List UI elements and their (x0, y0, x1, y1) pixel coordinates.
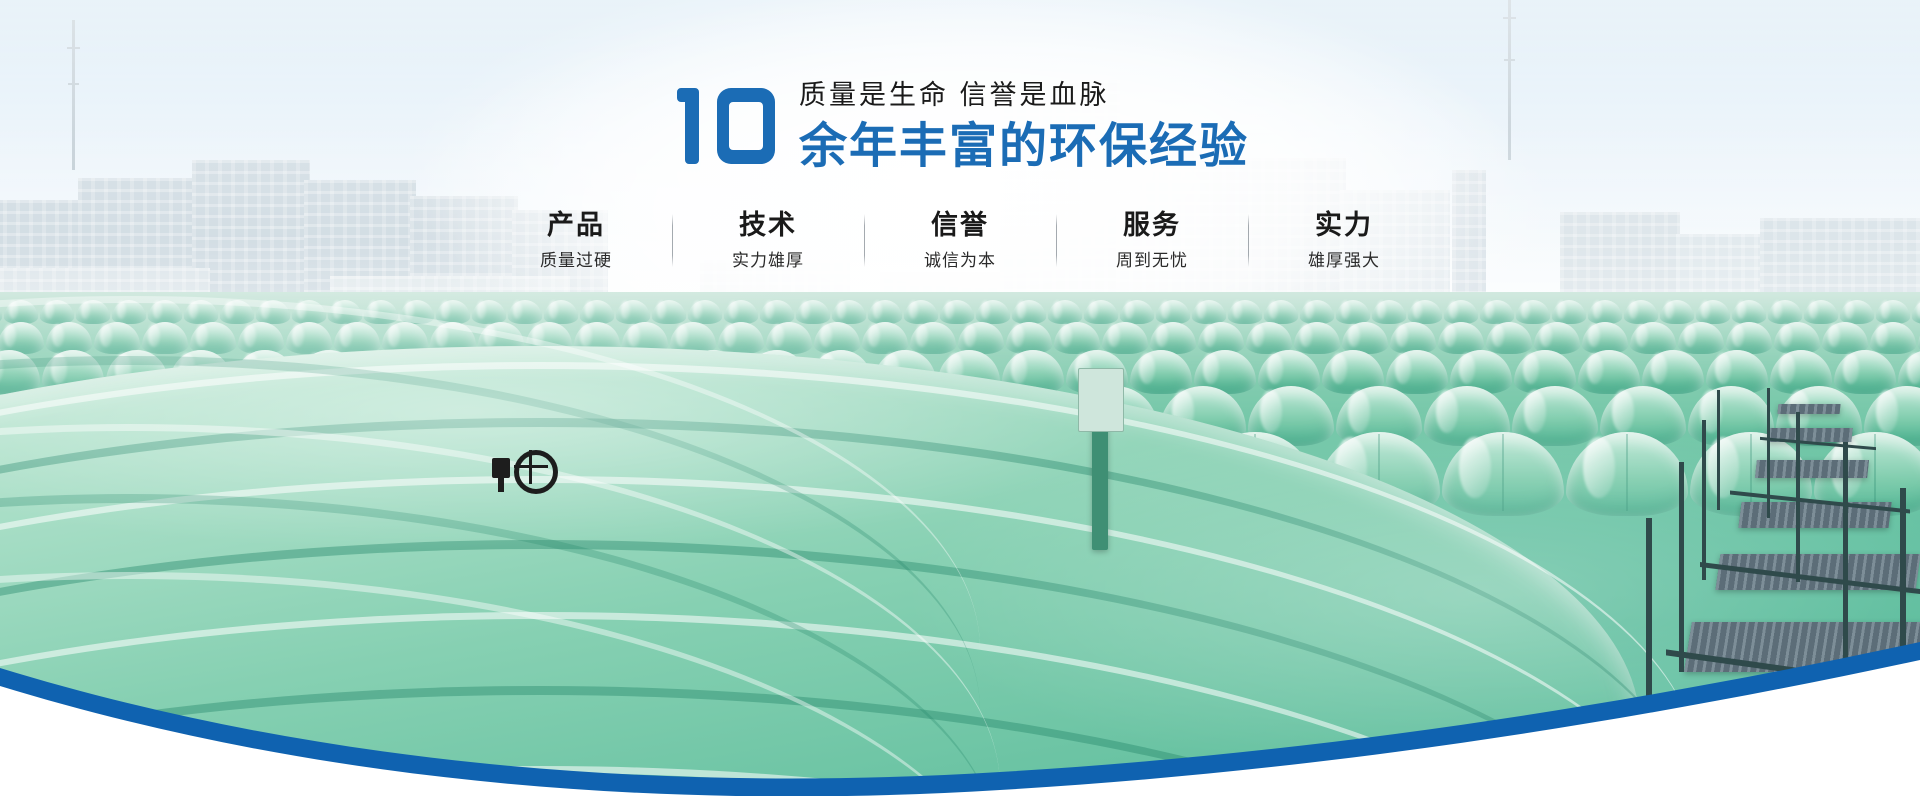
feature-item-reputation: 信誉 诚信为本 (864, 210, 1056, 271)
feature-title: 实力 (1315, 210, 1373, 242)
valve-stand-post (1092, 420, 1108, 550)
feature-title: 技术 (739, 210, 797, 242)
headline-tagline: 质量是生命 信誉是血脉 (799, 82, 1249, 109)
feature-item-technology: 技术 实力雄厚 (672, 210, 864, 271)
feature-item-strength: 实力 雄厚强大 (1248, 210, 1440, 271)
feature-title: 服务 (1123, 210, 1181, 242)
feature-list: 产品 质量过硬 技术 实力雄厚 信誉 诚信为本 服务 周到无忧 实力 雄厚强大 (0, 210, 1920, 271)
feature-subtitle: 实力雄厚 (732, 251, 804, 271)
years-number (671, 78, 783, 174)
hero-banner: 质量是生命 信誉是血脉 余年丰富的环保经验 产品 质量过硬 技术 实力雄厚 信誉… (0, 0, 1920, 796)
feature-subtitle: 周到无忧 (1116, 251, 1188, 271)
feature-subtitle: 质量过硬 (540, 251, 612, 271)
headline-title: 余年丰富的环保经验 (799, 123, 1249, 171)
handwheel-valve (492, 450, 552, 490)
bottom-wave-divider (0, 556, 1920, 796)
valve-stand-box (1078, 368, 1124, 432)
feature-item-service: 服务 周到无忧 (1056, 210, 1248, 271)
feature-item-product: 产品 质量过硬 (480, 210, 672, 271)
feature-subtitle: 诚信为本 (924, 251, 996, 271)
headline-block: 质量是生命 信誉是血脉 余年丰富的环保经验 (0, 74, 1920, 174)
feature-subtitle: 雄厚强大 (1308, 251, 1380, 271)
feature-title: 产品 (547, 210, 605, 242)
feature-title: 信誉 (931, 210, 989, 242)
